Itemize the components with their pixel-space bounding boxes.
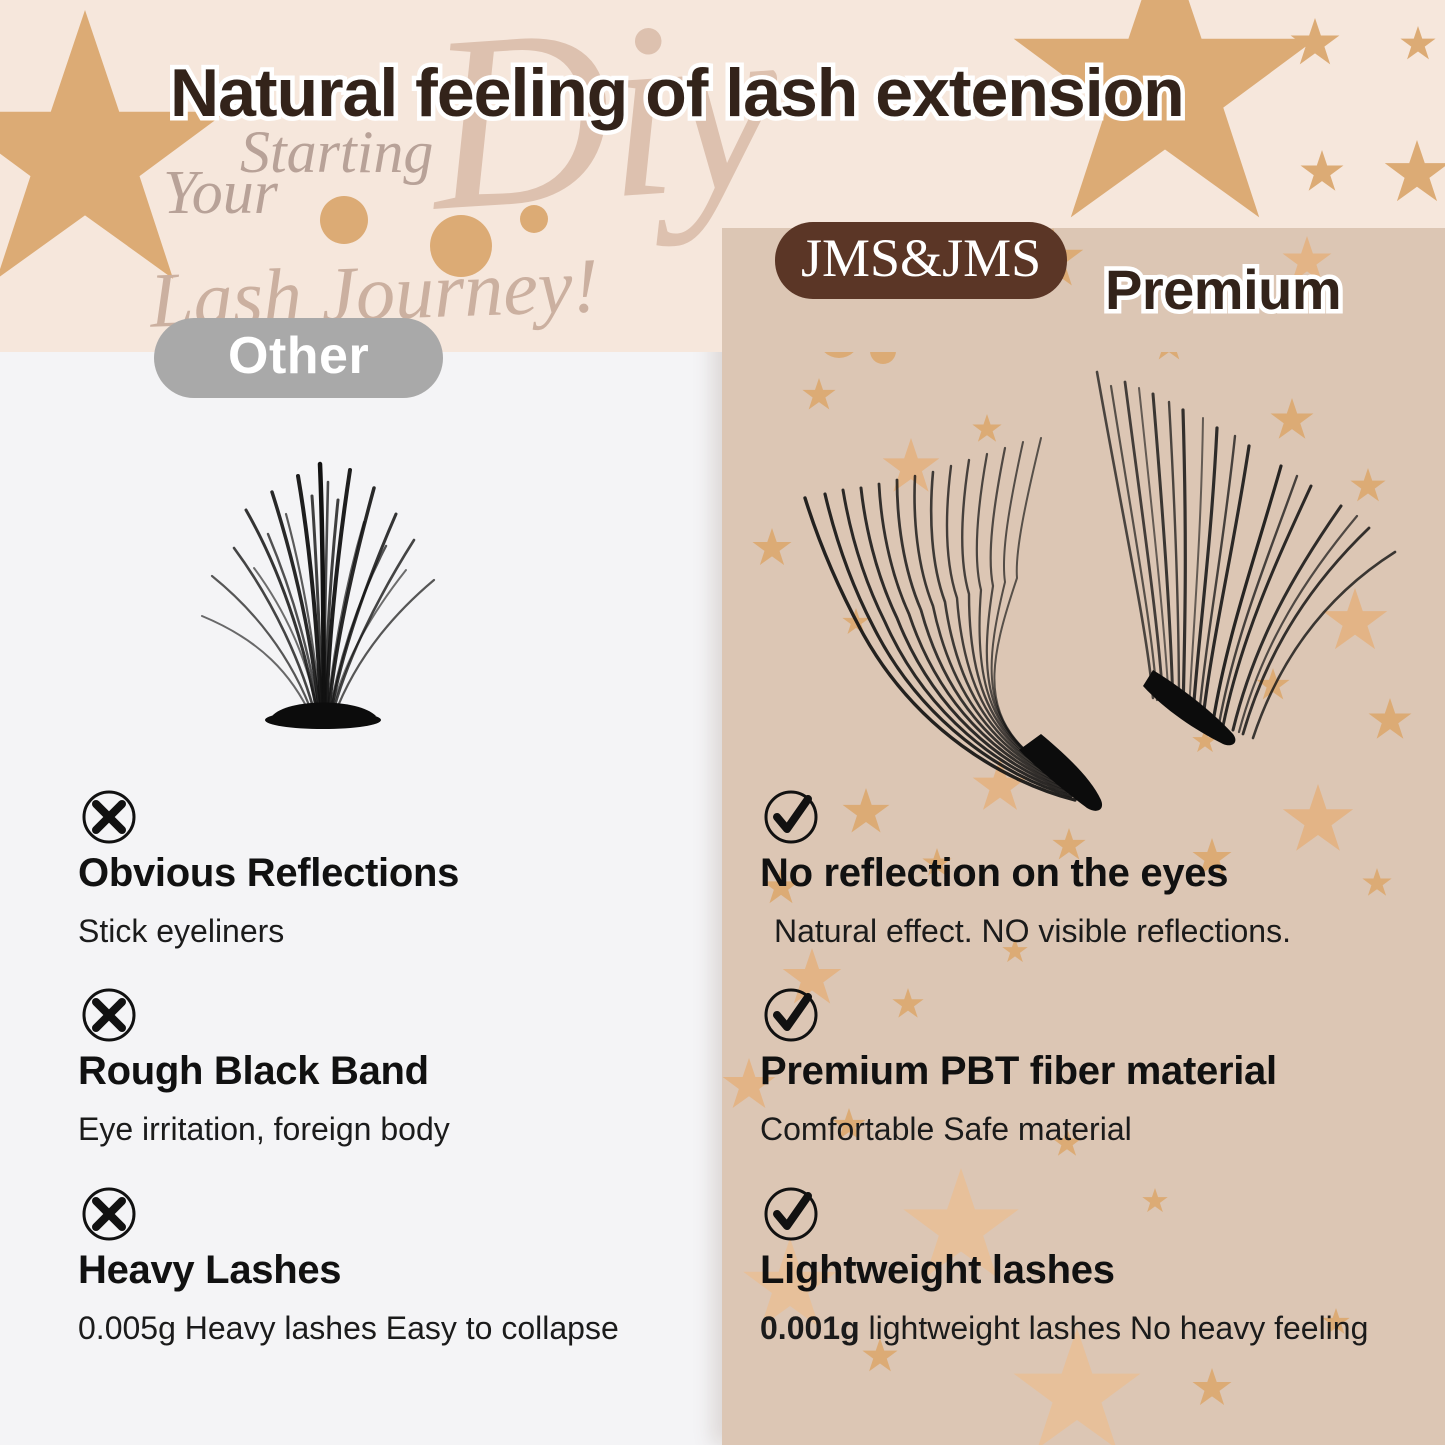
list-item: Premium PBT fiber material Comfortable S… [760,984,1440,1148]
decor-star [1400,26,1436,62]
left-feature-list: Obvious Reflections Stick eyeliners Roug… [78,786,708,1381]
decor-star [1300,150,1344,194]
feature-subtitle: Stick eyeliners [78,912,708,950]
check-circle-icon [760,984,822,1046]
list-item: Obvious Reflections Stick eyeliners [78,786,708,950]
feature-subtitle: 0.005g Heavy lashes Easy to collapse [78,1309,708,1347]
decor-star-large [0,10,230,300]
page-title: Natural feeling of lash extension [170,58,1290,129]
feature-title: No reflection on the eyes [760,850,1440,896]
list-item: No reflection on the eyes Natural effect… [760,786,1440,950]
cross-circle-icon [78,786,140,848]
script-your: Your [163,158,278,229]
right-feature-list: No reflection on the eyes Natural effect… [760,786,1440,1381]
decor-dot [520,205,548,233]
feature-subtitle: 0.001g lightweight lashes No heavy feeli… [760,1309,1440,1347]
page-title-light: Natural feeling of [170,55,725,131]
decor-star [1384,140,1445,206]
feature-subtitle: Natural effect. NO visible reflections. [774,912,1440,950]
badge-other: Other [154,318,443,398]
cross-circle-icon [78,1183,140,1245]
feature-title: Lightweight lashes [760,1247,1440,1293]
cross-circle-icon [78,984,140,1046]
list-item: Lightweight lashes 0.001g lightweight la… [760,1183,1440,1347]
feature-subtitle: Comfortable Safe material [760,1110,1440,1148]
badge-brand-jms: JMS&JMS [775,222,1067,299]
decor-dot [430,215,492,277]
page-title-bold: lash extension [725,55,1183,131]
list-item: Rough Black Band Eye irritation, foreign… [78,984,708,1148]
feature-title: Obvious Reflections [78,850,708,896]
list-item: Heavy Lashes 0.005g Heavy lashes Easy to… [78,1183,708,1347]
decor-dot [320,196,368,244]
infographic-root: Diy Starting Your Lash Journey! Natural … [0,0,1445,1445]
lash-pair-icon [775,330,1415,830]
feature-title: Heavy Lashes [78,1247,708,1293]
feature-title: Premium PBT fiber material [760,1048,1440,1094]
check-circle-icon [760,786,822,848]
feature-title: Rough Black Band [78,1048,708,1094]
check-circle-icon [760,1183,822,1245]
badge-premium: Premium [1105,262,1341,318]
feature-subtitle: Eye irritation, foreign body [78,1110,708,1148]
feature-subtitle-weight: 0.001g [760,1310,860,1346]
feature-subtitle-rest: lightweight lashes No heavy feeling [860,1310,1369,1346]
lash-cluster-icon [168,430,478,730]
